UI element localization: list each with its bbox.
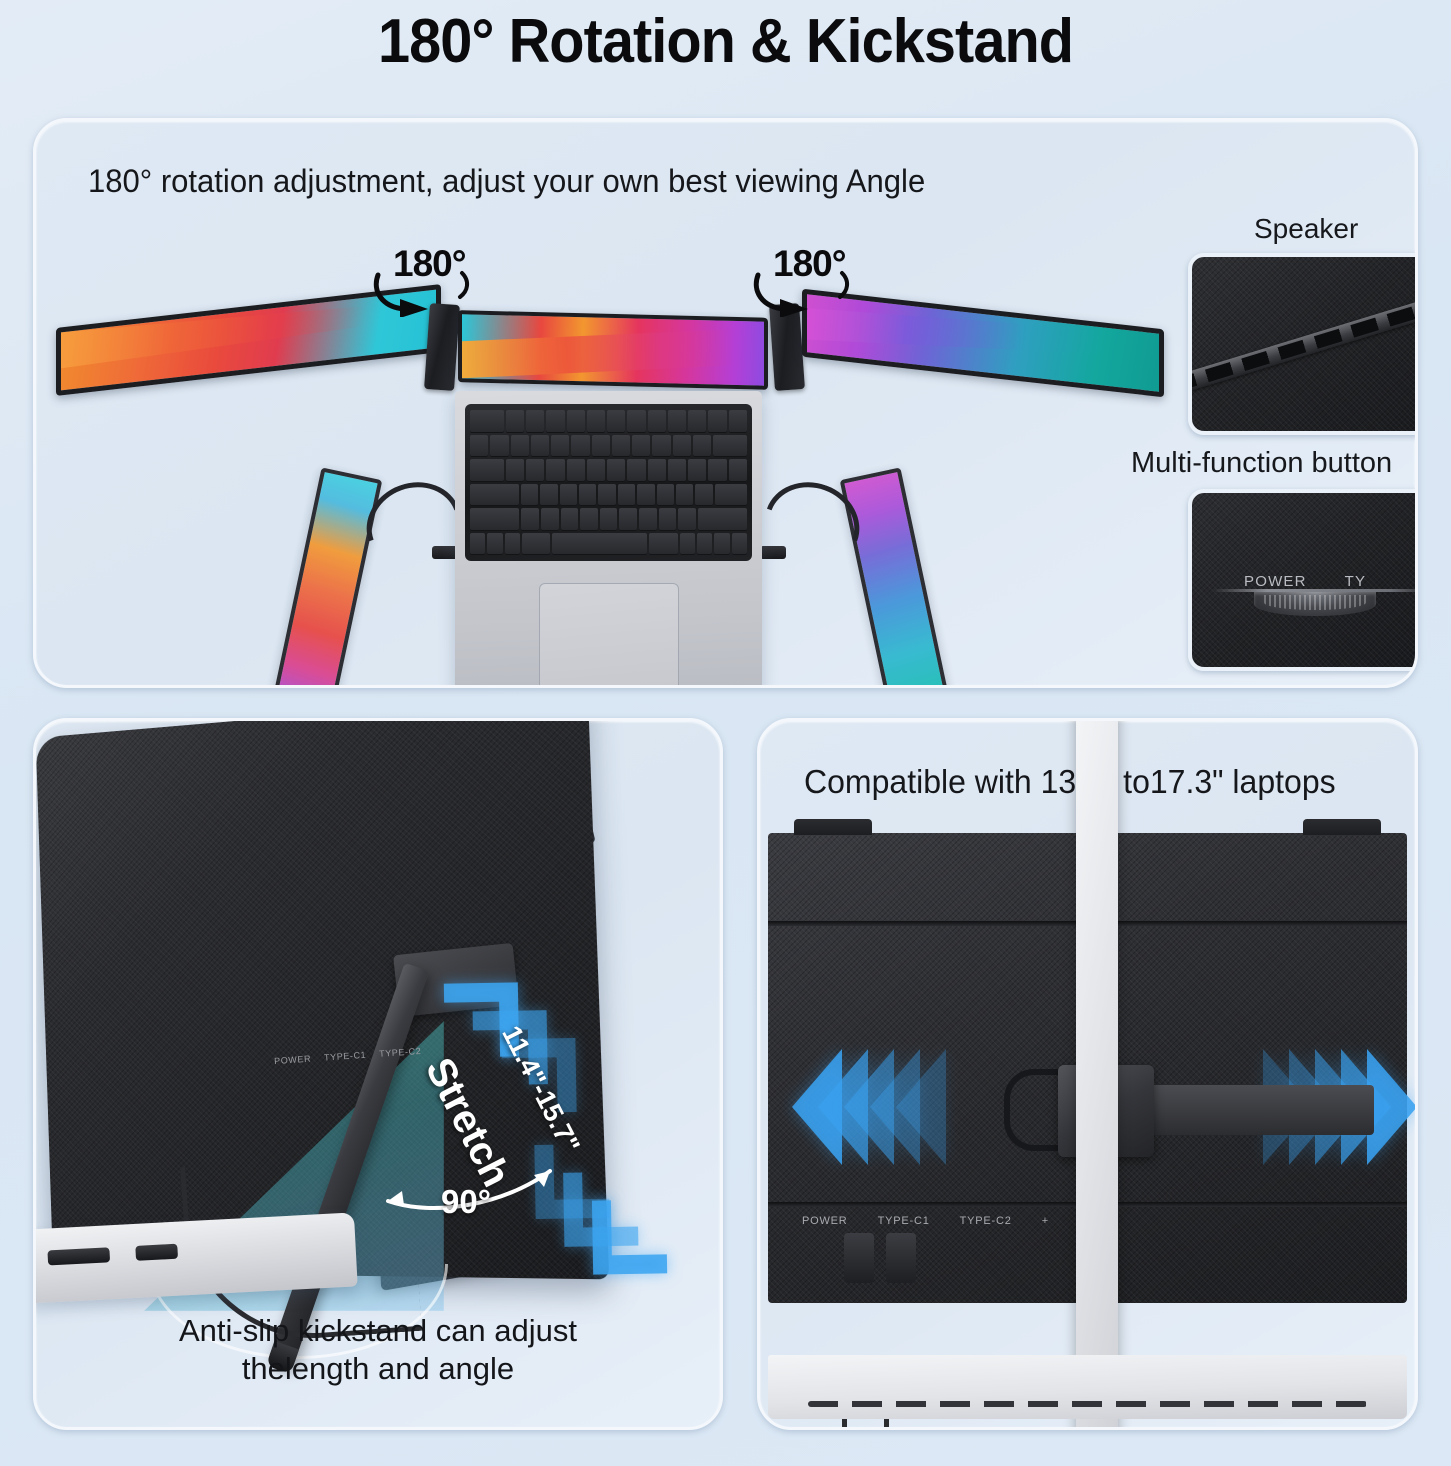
compatibility-illustration: POWER TYPE-C1 TYPE-C2 +: [760, 721, 1415, 1427]
keyboard-row: [470, 533, 747, 556]
angle-label: 90°: [441, 1183, 491, 1221]
port-label-power: POWER: [802, 1215, 848, 1227]
left-rotation-arrow-icon: [370, 269, 480, 317]
laptop-keyboard: [465, 404, 752, 561]
kickstand-card: 11.4"-15.7" Stretch 90° POWER TYPE-C1 TY…: [33, 718, 723, 1430]
port-label-type: TY: [1345, 573, 1367, 590]
page-title: 180° Rotation & Kickstand: [51, 0, 1400, 77]
laptop-silhouette-strip: [1076, 718, 1118, 1430]
port-label-power: POWER: [1244, 573, 1307, 590]
kickstand-caption-line-2: thelength and angle: [36, 1350, 720, 1389]
power-knob-icon: [1254, 592, 1376, 616]
rotation-card: 180° rotation adjustment, adjust your ow…: [33, 118, 1418, 688]
speaker-thumbnail: [1188, 253, 1418, 435]
laptop-port: [135, 1244, 178, 1261]
port-label-type-c1: TYPE-C1: [878, 1215, 930, 1227]
monitor-notch-right: [1303, 819, 1381, 835]
left-swung-panel: [268, 467, 383, 688]
keyboard-row: [470, 435, 747, 458]
right-rotation-arrow-icon: [750, 269, 860, 317]
kickstand-caption-line-1: Anti-slip kickstand can adjust: [36, 1312, 720, 1351]
laptop-body: [455, 391, 762, 688]
clamp-arm: [1144, 1085, 1374, 1135]
compatible-port-labels: POWER TYPE-C1 TYPE-C2 +: [802, 1215, 1049, 1227]
port-label-type-c2: TYPE-C2: [960, 1215, 1012, 1227]
expand-left-chevrons-icon: [792, 1049, 922, 1165]
center-monitor-screen: [458, 310, 768, 390]
right-swung-panel: [840, 467, 955, 688]
multi-function-button-label: Multi-function button: [1131, 447, 1392, 480]
kickstand-caption: Anti-slip kickstand can adjust thelength…: [36, 1312, 720, 1390]
monitor-notch-left: [794, 819, 872, 835]
laptop-base-front: [768, 1355, 1407, 1419]
port-label-extra: +: [1042, 1215, 1049, 1227]
keyboard-row: [470, 484, 747, 507]
keyboard-row: [470, 459, 747, 482]
compatible-card: Compatible with 13.3" to17.3" laptops: [757, 718, 1418, 1430]
thumbnail-port-labels: POWER TY: [1192, 573, 1418, 590]
rotation-illustration: 180° 180° Speaker Multi-function button …: [36, 121, 1415, 685]
usb-c-plug: [886, 1233, 916, 1283]
laptop-port: [47, 1247, 110, 1265]
keyboard-row: [470, 410, 747, 433]
keyboard-row: [470, 508, 747, 531]
multi-function-button-thumbnail: POWER TY: [1188, 489, 1418, 671]
base-vents: [808, 1401, 1367, 1407]
speaker-label: Speaker: [1254, 213, 1358, 245]
laptop-trackpad: [539, 583, 679, 688]
clamp-ring: [1004, 1069, 1066, 1151]
usb-c-plug: [844, 1233, 874, 1283]
right-plug: [760, 546, 786, 559]
